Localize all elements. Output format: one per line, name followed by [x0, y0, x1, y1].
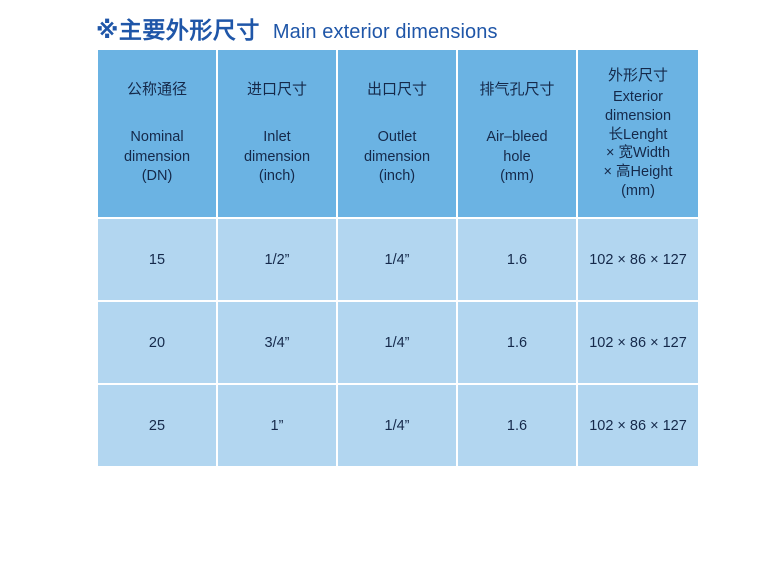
column-header-english-line: (mm) [578, 182, 698, 201]
cell-air-bleed-hole: 1.6 [458, 219, 578, 302]
column-header-content: 公称通径Nominaldimension(DN) [98, 80, 216, 187]
column-header-1: 公称通径Nominaldimension(DN) [98, 50, 218, 219]
column-header-spacer [98, 102, 216, 128]
page-title: ※主要外形尺寸 Main exterior dimensions [96, 11, 498, 45]
column-header-english-line: Exterior [578, 88, 698, 107]
column-header-2: 进口尺寸Inletdimension(inch) [218, 50, 338, 219]
column-header-chinese: 外形尺寸 [578, 66, 698, 86]
column-header-content: 进口尺寸Inletdimension(inch) [218, 80, 336, 187]
cell-outlet-dimension: 1/4” [338, 302, 458, 385]
column-header-english-line: × 宽Width [578, 144, 698, 163]
column-header-chinese: 排气孔尺寸 [458, 80, 576, 100]
cell-nominal-dimension: 15 [98, 219, 218, 302]
column-header-chinese: 出口尺寸 [338, 80, 456, 100]
cell-outlet-dimension: 1/4” [338, 385, 458, 466]
cell-inlet-dimension: 1/2” [218, 219, 338, 302]
cell-air-bleed-hole: 1.6 [458, 302, 578, 385]
column-header-3: 出口尺寸Outletdimension(inch) [338, 50, 458, 219]
page-title-chinese: ※主要外形尺寸 [96, 11, 260, 45]
column-header-english-line: dimension [218, 148, 336, 168]
column-header-content: 排气孔尺寸Air–bleedhole(mm) [458, 80, 576, 187]
column-header-content: 外形尺寸Exteriordimension长Lenght× 宽Width× 高H… [578, 66, 698, 201]
column-header-chinese: 进口尺寸 [218, 80, 336, 100]
column-header-english-line: Inlet [218, 128, 336, 148]
column-header-english-line: (inch) [218, 167, 336, 187]
page-title-english: Main exterior dimensions [273, 21, 498, 44]
column-header-spacer [458, 102, 576, 128]
column-header-5: 外形尺寸Exteriordimension长Lenght× 宽Width× 高H… [578, 50, 698, 219]
column-header-content: 出口尺寸Outletdimension(inch) [338, 80, 456, 187]
column-header-english-line: × 高Height [578, 163, 698, 182]
page-title-chinese-text: 主要外形尺寸 [119, 17, 260, 43]
column-header-english-line: dimension [98, 148, 216, 168]
column-header-english-line: hole [458, 148, 576, 168]
column-header-english-line: (inch) [338, 167, 456, 187]
column-header-english-line: (DN) [98, 167, 216, 187]
cell-exterior-dimension: 102 × 86 × 127 [578, 385, 698, 466]
table-row: 203/4”1/4”1.6102 × 86 × 127 [98, 302, 698, 385]
cell-nominal-dimension: 20 [98, 302, 218, 385]
column-header-4: 排气孔尺寸Air–bleedhole(mm) [458, 50, 578, 219]
cell-nominal-dimension: 25 [98, 385, 218, 466]
column-header-spacer [338, 102, 456, 128]
column-header-english-line: Nominal [98, 128, 216, 148]
cell-air-bleed-hole: 1.6 [458, 385, 578, 466]
column-header-english-line: dimension [338, 148, 456, 168]
cell-exterior-dimension: 102 × 86 × 127 [578, 219, 698, 302]
column-header-english-line: dimension [578, 107, 698, 126]
cell-inlet-dimension: 3/4” [218, 302, 338, 385]
reference-marker-icon: ※ [96, 17, 119, 43]
cell-inlet-dimension: 1” [218, 385, 338, 466]
table-row: 251”1/4”1.6102 × 86 × 127 [98, 385, 698, 466]
table-header-row: 公称通径Nominaldimension(DN)进口尺寸Inletdimensi… [98, 50, 698, 219]
column-header-spacer [218, 102, 336, 128]
column-header-chinese: 公称通径 [98, 80, 216, 100]
cell-exterior-dimension: 102 × 86 × 127 [578, 302, 698, 385]
main-exterior-dimensions-table: 公称通径Nominaldimension(DN)进口尺寸Inletdimensi… [98, 50, 698, 466]
table-body: 公称通径Nominaldimension(DN)进口尺寸Inletdimensi… [98, 50, 698, 466]
table-row: 151/2”1/4”1.6102 × 86 × 127 [98, 219, 698, 302]
column-header-english-line: Air–bleed [458, 128, 576, 148]
cell-outlet-dimension: 1/4” [338, 219, 458, 302]
column-header-english-line: Outlet [338, 128, 456, 148]
column-header-english-line: (mm) [458, 167, 576, 187]
column-header-english-line: 长Lenght [578, 126, 698, 145]
